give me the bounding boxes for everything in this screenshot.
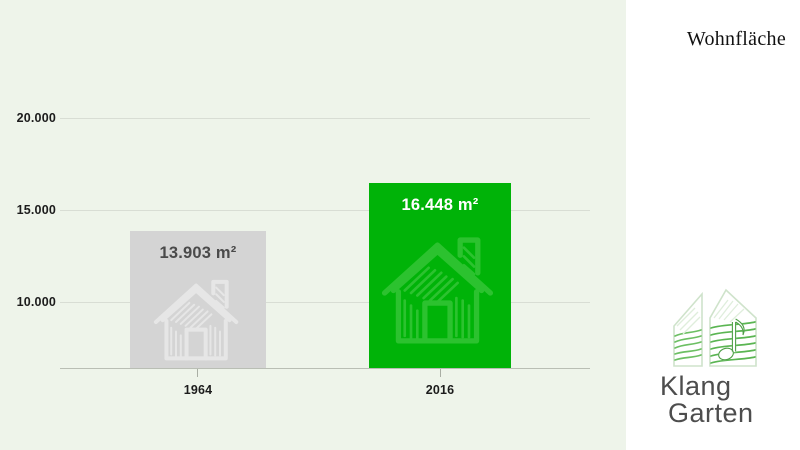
x-axis-category-label-1964: 1964	[130, 383, 266, 397]
logo-word-garten: Garten	[668, 398, 754, 428]
logo-word-klang: Klang	[660, 371, 732, 401]
brand-logo: Klang Garten	[656, 278, 776, 428]
chart-panel: 20.000 15.000 10.000 13.903 m²	[0, 0, 626, 450]
x-axis-tick-2016	[440, 369, 441, 377]
x-axis-category-label-2016: 2016	[369, 383, 511, 397]
bar-value-label-1964: 13.903 m²	[130, 244, 266, 263]
right-panel: Wohnfläche	[626, 0, 800, 450]
bar-1964[interactable]: 13.903 m²	[130, 231, 266, 368]
bar-chart: 20.000 15.000 10.000 13.903 m²	[0, 0, 626, 450]
gridline-20000	[60, 118, 590, 119]
y-axis-tick-label-10000: 10.000	[8, 295, 56, 309]
slide-root: 20.000 15.000 10.000 13.903 m²	[0, 0, 800, 450]
logo-wordmark: Klang Garten	[656, 370, 776, 428]
bar-2016[interactable]: 16.448 m²	[369, 183, 511, 368]
x-axis-tick-1964	[197, 369, 198, 377]
page-title: Wohnfläche	[626, 28, 786, 51]
x-axis-line	[60, 368, 590, 369]
house-music-staff-logo-icon	[664, 278, 768, 370]
y-axis-tick-label-15000: 15.000	[8, 203, 56, 217]
house-sketch-icon	[150, 278, 246, 366]
house-sketch-icon	[377, 235, 503, 351]
bar-value-label-2016: 16.448 m²	[369, 196, 511, 215]
y-axis-tick-label-20000: 20.000	[8, 111, 56, 125]
